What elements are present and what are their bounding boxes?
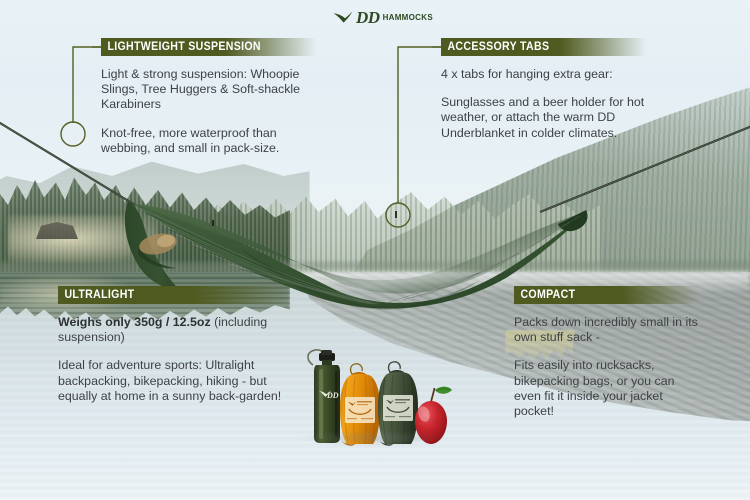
callout-body: 4 x tabs for hanging extra gear: Sunglas… [441,56,646,141]
callout-body: Weighs only 350g / 12.5oz (including sus… [58,304,288,404]
callout-emphasis: Weighs only 350g / 12.5oz [58,315,211,329]
callout-body: Light & strong suspension: Whoopie Sling… [101,56,316,156]
callout-paragraph: Light & strong suspension: Whoopie Sling… [101,67,316,113]
callout-paragraph-rich: Weighs only 350g / 12.5oz (including sus… [58,315,288,345]
callout-accessory-tabs: ACCESSORY TABS 4 x tabs for hanging extr… [441,38,646,141]
connector-accessory-tabs [398,47,441,203]
annotation-marker-accessory-tab [386,203,410,227]
bottle-shadow-edge [335,371,338,437]
callout-lightweight-suspension: LIGHTWEIGHT SUSPENSION Light & strong su… [101,38,316,156]
callout-header-bar: ULTRALIGHT [58,286,288,304]
callout-compact: COMPACT Packs down incredibly small in i… [514,286,700,419]
callout-paragraph: Ideal for adventure sports: Ultralight b… [58,358,288,404]
sack-green-label-line1 [395,399,410,401]
bottle-logo-text: DD [326,391,339,400]
sack-green-label-line2 [395,402,406,403]
brand-name: DD [356,9,380,26]
callout-title: COMPACT [514,289,575,301]
callout-header-bar: LIGHTWEIGHT SUSPENSION [101,38,316,56]
brand-logo[interactable]: DD HAMMOCKS [333,9,433,26]
sack-green-label-line4 [399,416,411,417]
sack-orange-label-line1 [357,401,372,403]
callout-title: ULTRALIGHT [58,289,134,301]
dd-swoosh-logo-icon [333,11,353,24]
sack-orange-label-line3 [347,418,357,419]
callout-paragraph: Sunglasses and a beer holder for hot wea… [441,95,646,141]
sack-green-label-line3 [385,416,395,417]
callout-header-bar: COMPACT [514,286,700,304]
annotation-marker-suspension [61,122,85,146]
bottle-neck [322,360,332,365]
callout-title: LIGHTWEIGHT SUSPENSION [101,41,261,53]
callout-body: Packs down incredibly small in its own s… [514,304,700,419]
callout-title: ACCESSORY TABS [441,41,549,53]
callout-paragraph: Fits easily into rucksacks, bikepacking … [514,358,700,419]
product-infographic: DD HAMMOCKS LIGHTWEIGHT SUSPENSION Light… [0,0,750,500]
callout-header-bar: ACCESSORY TABS [441,38,646,56]
bottle-highlight [319,369,323,439]
apple-stem [431,388,435,402]
product-water-bottle: DD [308,350,340,443]
callout-paragraph: 4 x tabs for hanging extra gear: [441,67,646,82]
connector-lightweight-suspension [73,47,101,123]
sack-orange-label-line4 [361,418,373,419]
callout-paragraph: Knot-free, more waterproof than webbing,… [101,126,316,156]
callout-ultralight: ULTRALIGHT Weighs only 350g / 12.5oz (in… [58,286,288,404]
sack-orange-label-line2 [357,404,368,405]
bottle-cap-top [321,350,332,355]
callout-paragraph: Packs down incredibly small in its own s… [514,315,700,345]
brand-suffix: HAMMOCKS [383,13,433,22]
product-shadow [301,431,447,445]
product-group: DD [295,345,455,450]
